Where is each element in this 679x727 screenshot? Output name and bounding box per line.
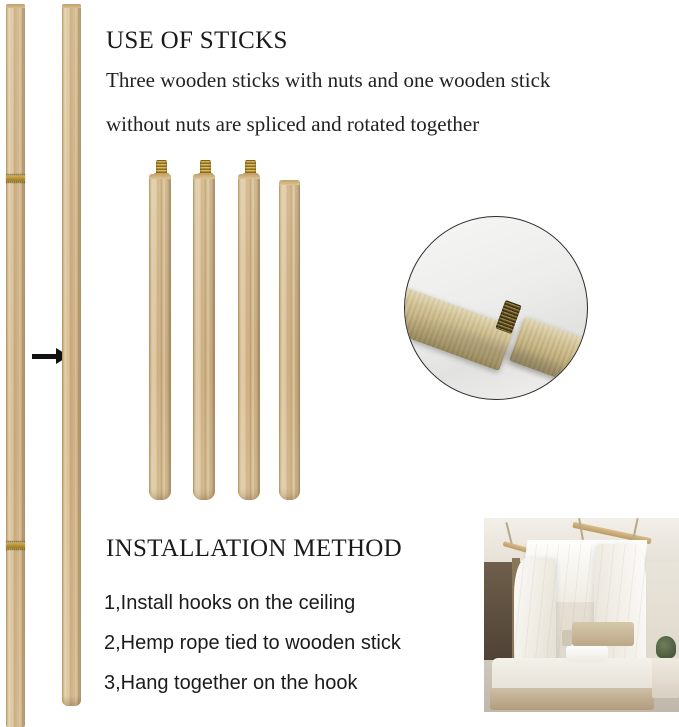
- arrow-shaft: [32, 354, 59, 359]
- photo-plant: [656, 636, 676, 658]
- installation-heading: INSTALLATION METHOD: [106, 535, 402, 563]
- segmented-assembled-pole: [6, 4, 25, 727]
- stick-4-top-face: [279, 180, 300, 185]
- pole-joint-lower: [6, 541, 25, 550]
- solid-assembled-pole: [62, 4, 81, 706]
- installation-step-3: 3,Hang together on the hook: [104, 672, 358, 695]
- stick-3: [238, 174, 260, 500]
- solid-pole-top-cap: [62, 4, 81, 8]
- use-of-sticks-line-1: Three wooden sticks with nuts and one wo…: [106, 68, 550, 93]
- closeup-exposed-thread: [495, 300, 521, 334]
- stick-1: [149, 174, 171, 500]
- use-of-sticks-line-2: without nuts are spliced and rotated tog…: [106, 112, 479, 137]
- stick-2-bottom: [193, 488, 215, 500]
- photo-lamp: [562, 630, 572, 646]
- photo-pillow: [566, 644, 608, 662]
- canopy-bed-installed-photo: [484, 518, 679, 712]
- pole-joint-upper: [6, 174, 25, 183]
- solid-pole-bottom: [62, 696, 81, 706]
- pole-top-cap: [6, 4, 25, 8]
- stick-3-top-face: [238, 174, 260, 179]
- photo-headboard: [572, 622, 634, 646]
- photo-bed-base: [490, 688, 654, 710]
- stick-4: [279, 180, 300, 500]
- use-of-sticks-heading: USE OF STICKS: [106, 27, 288, 55]
- stick-4-bottom: [279, 488, 300, 500]
- threaded-joint-closeup-photo: [404, 216, 588, 400]
- instruction-infographic: USE OF STICKS Three wooden sticks with n…: [0, 0, 679, 727]
- stick-3-bottom: [238, 488, 260, 500]
- installation-step-1: 1,Install hooks on the ceiling: [104, 592, 355, 615]
- stick-1-nut-icon: [156, 160, 167, 174]
- stick-2: [193, 174, 215, 500]
- stick-2-nut-icon: [200, 160, 211, 174]
- stick-1-top-face: [149, 174, 171, 179]
- photo-nightstand: [652, 658, 679, 698]
- installation-step-2: 2,Hemp rope tied to wooden stick: [104, 632, 401, 655]
- stick-2-top-face: [193, 174, 215, 179]
- stick-3-nut-icon: [245, 160, 256, 174]
- stick-1-bottom: [149, 488, 171, 500]
